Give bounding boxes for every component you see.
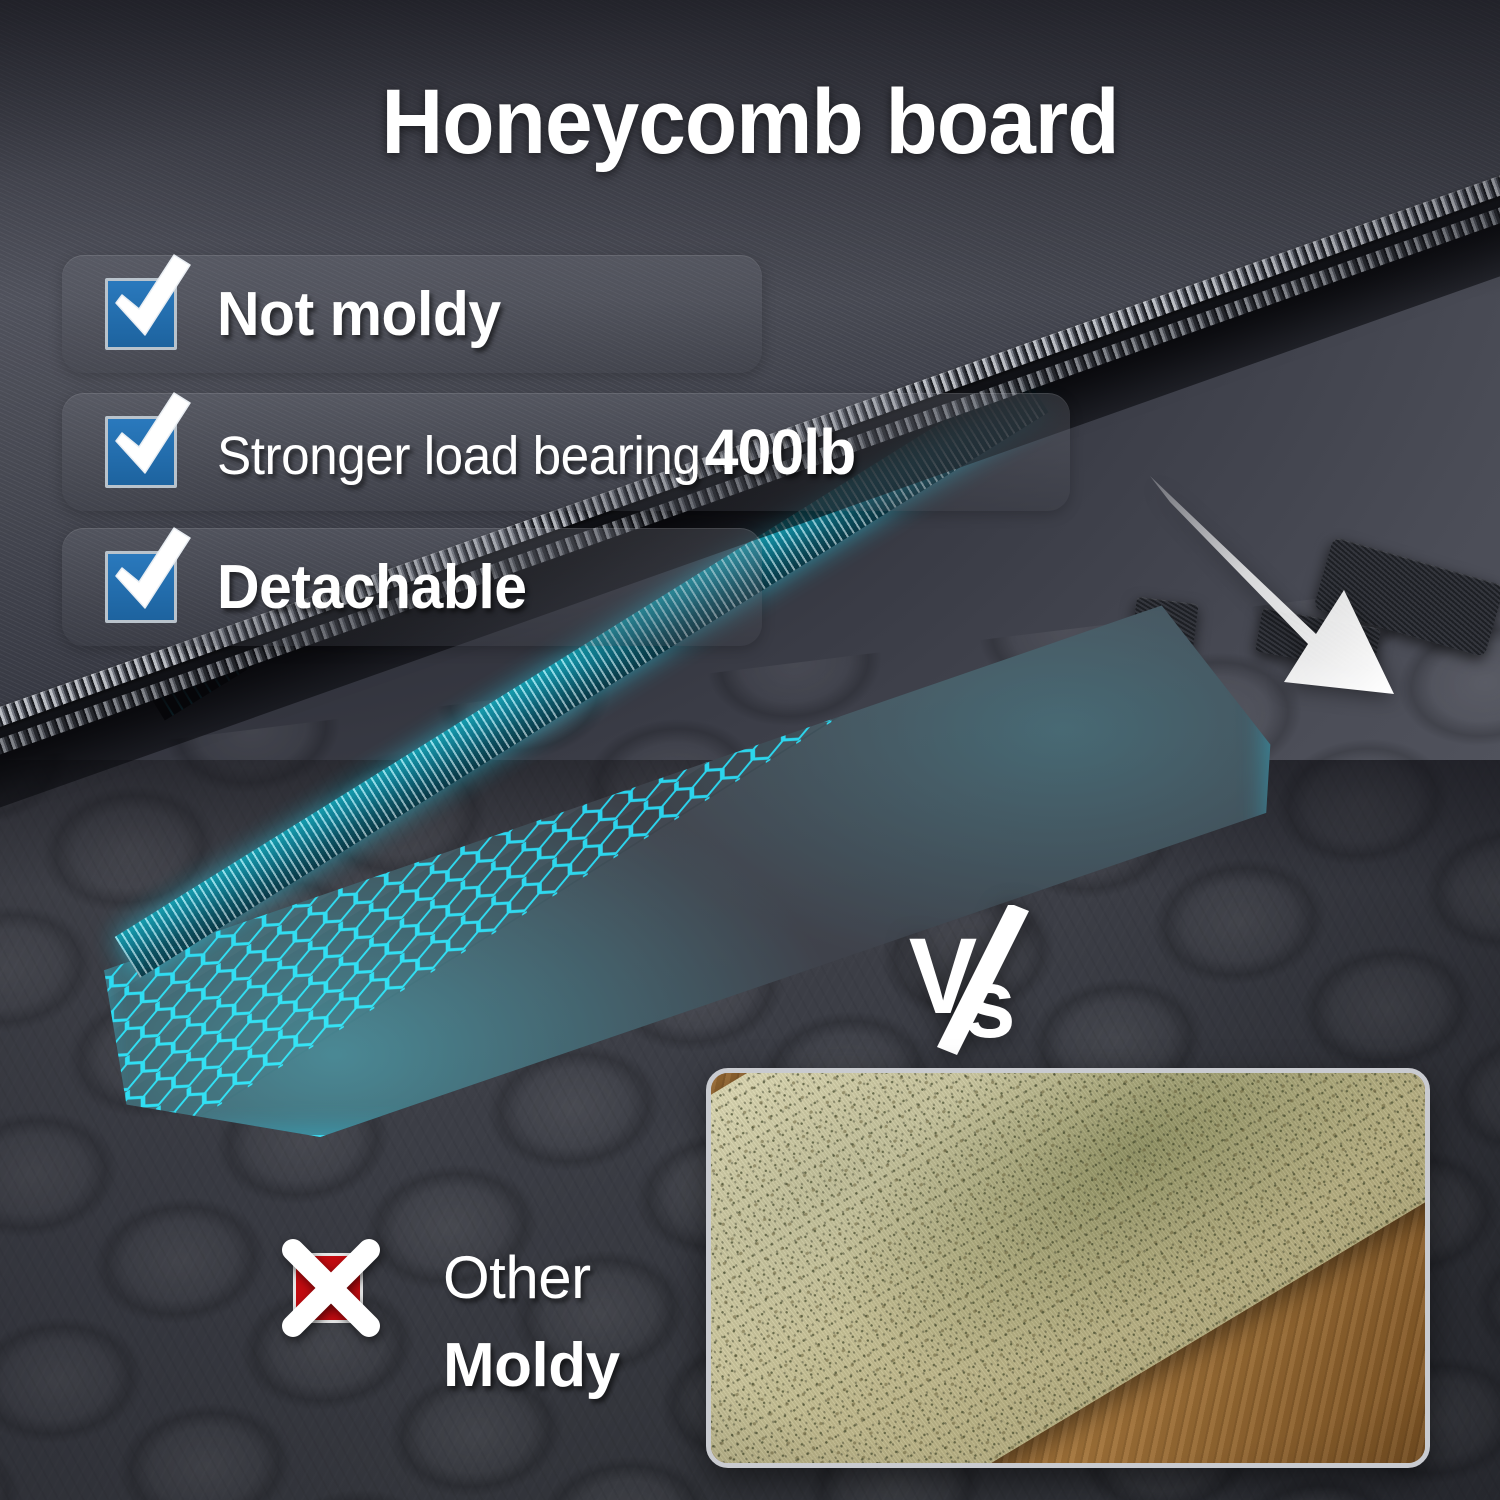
product-infographic: V s Honeycomb board Not moldy Stronger l… bbox=[0, 0, 1500, 1500]
checkbox-checked-icon bbox=[105, 416, 177, 488]
feature-label-group: Stronger load bearing 400lb bbox=[217, 415, 855, 489]
feature-emphasis-value: 400lb bbox=[705, 416, 856, 488]
feature-label: Not moldy bbox=[217, 279, 501, 350]
versus-graphic: V s bbox=[905, 905, 1055, 1055]
moldy-label: Moldy bbox=[443, 1330, 620, 1401]
feature-label: Stronger load bearing bbox=[217, 426, 700, 486]
checkbox-checked-icon bbox=[105, 278, 177, 350]
feature-label: Detachable bbox=[217, 552, 527, 623]
other-label: Other bbox=[443, 1243, 591, 1312]
moldy-pad-photo bbox=[706, 1068, 1430, 1468]
feature-item-not-moldy: Not moldy bbox=[62, 255, 762, 373]
x-mark-icon bbox=[267, 1224, 395, 1352]
feature-item-detachable: Detachable bbox=[62, 528, 762, 646]
pointer-arrow bbox=[1148, 468, 1448, 708]
photo-vignette bbox=[711, 1073, 1425, 1463]
checkbox-checked-icon bbox=[105, 551, 177, 623]
page-title: Honeycomb board bbox=[53, 74, 1448, 171]
feature-item-load-bearing: Stronger load bearing 400lb bbox=[62, 393, 1070, 511]
